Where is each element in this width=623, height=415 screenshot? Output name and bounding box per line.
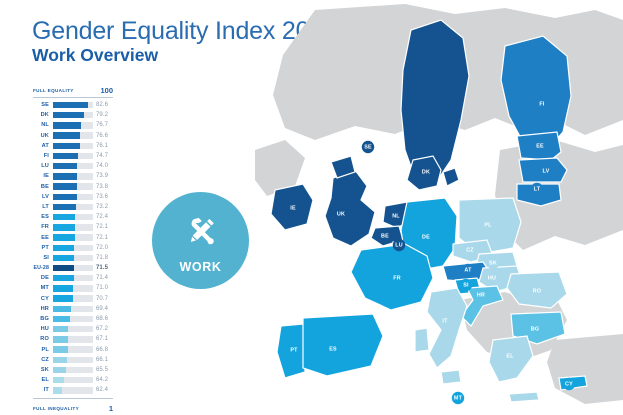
country-code: DK	[33, 112, 53, 118]
table-row: IE73.9	[33, 171, 113, 181]
country-code: EE	[33, 235, 53, 241]
country-code-bubble-de: DE	[420, 231, 432, 243]
bar-track	[53, 122, 93, 128]
country-code: DE	[33, 275, 53, 281]
bar-track	[53, 173, 93, 179]
bar-track	[53, 336, 93, 342]
country-code: FI	[33, 153, 53, 159]
country-code-bubble-sk: SK	[487, 257, 499, 269]
score-value: 72.1	[93, 224, 109, 230]
country-code-bubble-ee: EE	[534, 140, 546, 152]
bar-fill	[53, 112, 84, 118]
score-value: 67.1	[93, 336, 109, 342]
country-code-bubble-cz: CZ	[464, 244, 476, 256]
bar-fill	[53, 265, 74, 271]
table-row: EE72.1	[33, 232, 113, 242]
bar-track	[53, 255, 93, 261]
country-code: LT	[33, 204, 53, 210]
table-row: HR69.4	[33, 304, 113, 314]
table-row: LU74.0	[33, 161, 113, 171]
country-code: UK	[33, 133, 53, 139]
bar-track	[53, 224, 93, 230]
score-value: 79.2	[93, 112, 109, 118]
table-row: EU-2871.5	[33, 263, 113, 273]
country-code-bubble-lu: LU	[393, 239, 405, 251]
table-row: PL66.8	[33, 345, 113, 355]
score-value: 76.7	[93, 122, 109, 128]
score-value: 72.1	[93, 235, 109, 241]
score-value: 69.4	[93, 306, 109, 312]
score-value: 66.8	[93, 347, 109, 353]
full-equality-label: FULL EQUALITY	[33, 88, 74, 93]
wrench-pencil-icon	[181, 212, 221, 257]
bubble-label: FI	[539, 101, 544, 107]
bar-fill	[53, 357, 67, 363]
country-code: ES	[33, 214, 53, 220]
bar-fill	[53, 336, 69, 342]
bubble-label: LT	[534, 186, 541, 192]
bar-fill	[53, 275, 74, 281]
bar-fill	[53, 346, 68, 352]
score-value: 71.4	[93, 275, 109, 281]
table-row: IT62.4	[33, 385, 113, 395]
bubble-label: NL	[392, 213, 400, 219]
country-code: MT	[33, 285, 53, 291]
bubble-label: IE	[290, 205, 296, 211]
bubble-label: PL	[484, 222, 492, 228]
score-value: 73.8	[93, 184, 109, 190]
table-row: SE82.6	[33, 100, 113, 110]
bar-track	[53, 183, 93, 189]
bar-fill	[53, 122, 81, 128]
bubble-label: DE	[422, 234, 430, 240]
bubble-label: HU	[488, 275, 496, 281]
bar-fill	[53, 102, 89, 108]
bubble-label: EL	[506, 353, 514, 359]
bubble-label: BG	[531, 326, 540, 332]
table-row: UK76.6	[33, 131, 113, 141]
country-code: AT	[33, 143, 53, 149]
country-code: LU	[33, 163, 53, 169]
country-code: NL	[33, 122, 53, 128]
table-row: CZ66.1	[33, 355, 113, 365]
bar-track	[53, 316, 93, 322]
country-EL-crete	[509, 392, 539, 402]
table-row: SI71.8	[33, 253, 113, 263]
bar-track	[53, 153, 93, 159]
table-row: MT71.0	[33, 283, 113, 293]
country-code-bubble-lt: LT	[531, 183, 543, 195]
bar-fill	[53, 285, 74, 291]
bar-track	[53, 204, 93, 210]
bar-track	[53, 214, 93, 220]
bar-track	[53, 143, 93, 149]
bubble-label: PT	[290, 347, 298, 353]
bar-track	[53, 194, 93, 200]
table-row: NL76.7	[33, 120, 113, 130]
bar-track	[53, 346, 93, 352]
bubble-label: SK	[489, 260, 497, 266]
score-value: 74.7	[93, 153, 109, 159]
score-value: 76.6	[93, 133, 109, 139]
bar-track	[53, 285, 93, 291]
country-code: CY	[33, 296, 53, 302]
country-code-bubble-es: ES	[327, 343, 339, 355]
score-value: 65.5	[93, 367, 109, 373]
bubble-label: SE	[364, 144, 372, 150]
table-row: DK79.2	[33, 110, 113, 120]
score-value: 72.4	[93, 214, 109, 220]
country-code-bubble-hu: HU	[486, 272, 498, 284]
bar-fill	[53, 316, 71, 322]
bar-fill	[53, 295, 73, 301]
bar-fill	[53, 214, 75, 220]
bar-fill	[53, 234, 75, 240]
country-code-bubble-ro: RO	[531, 285, 543, 297]
bar-fill	[53, 224, 75, 230]
country-code-bubble-be: BE	[379, 230, 391, 242]
country-code: IE	[33, 173, 53, 179]
score-value: 73.2	[93, 204, 109, 210]
bar-track	[53, 387, 93, 393]
score-value: 71.0	[93, 285, 109, 291]
bar-fill	[53, 163, 78, 169]
bar-track	[53, 357, 93, 363]
bubble-label: FR	[393, 275, 401, 281]
score-value: 64.2	[93, 377, 109, 383]
bar-fill	[53, 367, 67, 373]
bar-track	[53, 245, 93, 251]
country-IT-sic	[441, 370, 461, 384]
score-value: 62.4	[93, 387, 109, 393]
score-value: 74.0	[93, 163, 109, 169]
bubble-label: UK	[337, 211, 345, 217]
bubble-label: EE	[536, 143, 544, 149]
bar-fill	[53, 387, 63, 393]
bubble-label: MT	[454, 395, 463, 401]
score-value: 72.0	[93, 245, 109, 251]
country-code-bubble-se: SE	[362, 141, 374, 153]
europe-choropleth-map: SEFIDKEELVLTIEUKNLBELUDEPLCZSKATHUSIHRRO…	[255, 0, 623, 415]
bar-track	[53, 377, 93, 383]
bar-fill	[53, 153, 78, 159]
bar-track	[53, 367, 93, 373]
country-code-bubble-lv: LV	[540, 165, 552, 177]
bar-fill	[53, 143, 80, 149]
table-row: FR72.1	[33, 222, 113, 232]
bar-track	[53, 326, 93, 332]
bar-track	[53, 295, 93, 301]
table-row: CY70.7	[33, 294, 113, 304]
table-row: HU67.2	[33, 324, 113, 334]
country-code-bubble-it: IT	[439, 315, 451, 327]
country-code: PT	[33, 245, 53, 251]
score-value: 82.6	[93, 102, 109, 108]
bar-fill	[53, 245, 75, 251]
table-row: AT76.1	[33, 141, 113, 151]
country-code: HR	[33, 306, 53, 312]
country-code: RO	[33, 336, 53, 342]
country-code: EL	[33, 377, 53, 383]
table-row: SK65.5	[33, 365, 113, 375]
country-code: EU-28	[33, 265, 53, 271]
bar-track	[53, 163, 93, 169]
score-value: 73.9	[93, 173, 109, 179]
table-row: DE71.4	[33, 273, 113, 283]
country-code-bubble-pl: PL	[482, 219, 494, 231]
country-IT-sar	[415, 328, 429, 352]
score-value: 66.1	[93, 357, 109, 363]
table-row: LV73.6	[33, 192, 113, 202]
bubble-label: CY	[565, 381, 573, 387]
bubble-label: LU	[395, 242, 403, 248]
bubble-label: DK	[422, 169, 430, 175]
bar-track	[53, 275, 93, 281]
table-row: EL64.2	[33, 375, 113, 385]
country-code: FR	[33, 224, 53, 230]
table-row: BE73.8	[33, 182, 113, 192]
bubble-label: RO	[533, 288, 542, 294]
scale-top: FULL EQUALITY 100	[33, 86, 113, 97]
country-code-bubble-pt: PT	[288, 344, 300, 356]
bubble-label: AT	[464, 267, 472, 273]
bar-fill	[53, 132, 81, 138]
bar-track	[53, 112, 93, 118]
infographic-canvas: Gender Equality Index 2017 Work Overview…	[0, 0, 623, 415]
country-code: BG	[33, 316, 53, 322]
bar-track	[53, 306, 93, 312]
scale-divider-bottom	[33, 398, 113, 399]
country-code: SI	[33, 255, 53, 261]
country-code: SE	[33, 102, 53, 108]
bar-fill	[53, 306, 72, 312]
bar-fill	[53, 255, 75, 261]
score-value: 73.6	[93, 194, 109, 200]
country-code: LV	[33, 194, 53, 200]
table-row: PT72.0	[33, 243, 113, 253]
country-code-bubble-dk: DK	[420, 166, 432, 178]
bar-fill	[53, 194, 77, 200]
bar-track	[53, 102, 93, 108]
table-row: BG68.6	[33, 314, 113, 324]
country-code-bubble-nl: NL	[390, 210, 402, 222]
country-code-bubble-cy: CY	[563, 378, 575, 390]
bar-fill	[53, 183, 77, 189]
country-code-bubble-fr: FR	[391, 272, 403, 284]
full-inequality-label: FULL INEQUALITY	[33, 406, 79, 411]
score-value: 68.6	[93, 316, 109, 322]
country-code: PL	[33, 347, 53, 353]
bar-fill	[53, 326, 69, 332]
work-domain-badge: WORK	[152, 192, 249, 289]
country-ranking-panel: FULL EQUALITY 100 SE82.6DK79.2NL76.7UK76…	[33, 86, 113, 413]
score-value: 70.7	[93, 296, 109, 302]
bubble-label: IT	[442, 318, 448, 324]
score-value: 76.1	[93, 143, 109, 149]
bar-fill	[53, 204, 76, 210]
scale-bottom: FULL INEQUALITY 1	[33, 401, 113, 413]
bar-track	[53, 234, 93, 240]
country-code: CZ	[33, 357, 53, 363]
bar-fill	[53, 377, 65, 383]
country-code: SK	[33, 367, 53, 373]
bar-track	[53, 265, 93, 271]
country-code-bubble-bg: BG	[529, 323, 541, 335]
table-row: FI74.7	[33, 151, 113, 161]
bar-fill	[53, 173, 77, 179]
country-code-bubble-uk: UK	[335, 208, 347, 220]
full-equality-value: 100	[100, 86, 113, 95]
work-badge-label: WORK	[180, 260, 222, 274]
bubble-label: LV	[543, 168, 550, 174]
bubble-label: HR	[477, 292, 485, 298]
country-code-bubble-mt: MT	[452, 392, 464, 404]
country-code-bubble-si: SI	[460, 279, 472, 291]
table-row: LT73.2	[33, 202, 113, 212]
country-code-bubble-hr: HR	[475, 289, 487, 301]
country-code-bubble-at: AT	[462, 264, 474, 276]
country-code: IT	[33, 387, 53, 393]
score-value: 67.2	[93, 326, 109, 332]
bubble-label: ES	[329, 346, 337, 352]
country-code: HU	[33, 326, 53, 332]
bubble-label: BE	[381, 233, 389, 239]
map-svg: SEFIDKEELVLTIEUKNLBELUDEPLCZSKATHUSIHRRO…	[255, 0, 623, 415]
ranking-row-list: SE82.6DK79.2NL76.7UK76.6AT76.1FI74.7LU74…	[33, 100, 113, 395]
country-code-bubble-ie: IE	[287, 202, 299, 214]
scale-divider	[33, 97, 113, 98]
country-code-bubble-el: EL	[504, 350, 516, 362]
table-row: ES72.4	[33, 212, 113, 222]
score-value: 71.5	[93, 265, 109, 271]
country-code-bubble-fi: FI	[536, 98, 548, 110]
bubble-label: CZ	[466, 247, 474, 253]
table-row: RO67.1	[33, 334, 113, 344]
full-inequality-value: 1	[109, 404, 113, 413]
score-value: 71.8	[93, 255, 109, 261]
bar-track	[53, 132, 93, 138]
bubble-label: SI	[463, 282, 469, 288]
country-code: BE	[33, 184, 53, 190]
